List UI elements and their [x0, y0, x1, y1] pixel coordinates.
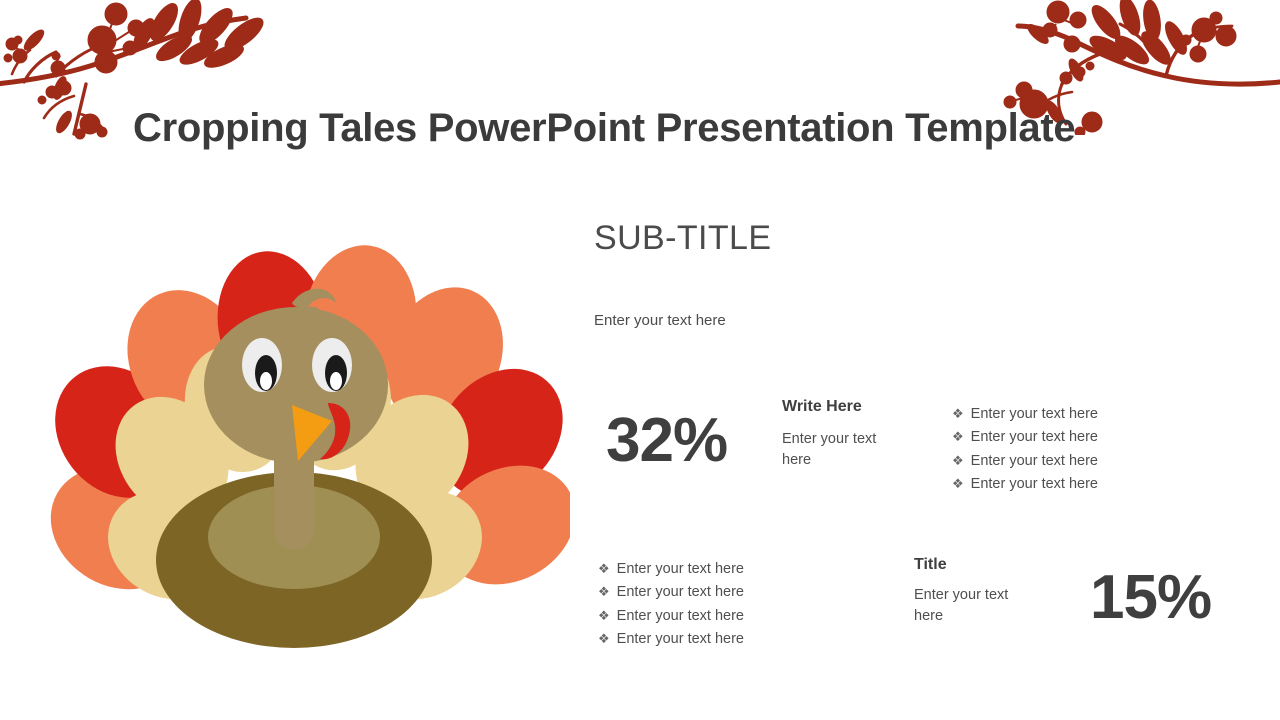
stat-description-left: Enter your text here	[782, 429, 900, 471]
floret-bullet-icon: ❖	[598, 585, 610, 598]
bullet-list-top-right: ❖ Enter your text here ❖ Enter your text…	[952, 405, 1098, 499]
floret-bullet-icon: ❖	[598, 609, 610, 622]
turkey-illustration	[40, 245, 570, 655]
list-item-label: Enter your text here	[617, 560, 744, 579]
stat-value-right: 15%	[1090, 567, 1211, 629]
list-item-label: Enter your text here	[971, 452, 1098, 471]
floret-bullet-icon: ❖	[952, 477, 964, 490]
list-item-label: Enter your text here	[617, 630, 744, 649]
stat-heading-right: Title	[914, 556, 947, 574]
stat-description-right: Enter your text here	[914, 585, 1032, 627]
presentation-slide: Cropping Tales PowerPoint Presentation T…	[0, 0, 1280, 720]
list-item-label: Enter your text here	[971, 405, 1098, 424]
list-item-label: Enter your text here	[617, 583, 744, 602]
floret-bullet-icon: ❖	[952, 407, 964, 420]
list-item: ❖ Enter your text here	[952, 452, 1098, 471]
floret-bullet-icon: ❖	[598, 632, 610, 645]
list-item-label: Enter your text here	[971, 428, 1098, 447]
list-item: ❖ Enter your text here	[598, 607, 744, 626]
list-item: ❖ Enter your text here	[952, 405, 1098, 424]
sub-title-description: Enter your text here	[594, 312, 726, 329]
floret-bullet-icon: ❖	[952, 430, 964, 443]
bullet-list-bottom-left: ❖ Enter your text here ❖ Enter your text…	[598, 560, 744, 654]
list-item: ❖ Enter your text here	[598, 560, 744, 579]
list-item: ❖ Enter your text here	[952, 475, 1098, 494]
stat-value-left: 32%	[606, 410, 727, 472]
list-item: ❖ Enter your text here	[598, 630, 744, 649]
slide-title: Cropping Tales PowerPoint Presentation T…	[133, 106, 1075, 151]
list-item: ❖ Enter your text here	[952, 428, 1098, 447]
list-item-label: Enter your text here	[971, 475, 1098, 494]
sub-title: SUB-TITLE	[594, 219, 771, 258]
list-item-label: Enter your text here	[617, 607, 744, 626]
list-item: ❖ Enter your text here	[598, 583, 744, 602]
floret-bullet-icon: ❖	[598, 562, 610, 575]
stat-heading-left: Write Here	[782, 398, 862, 416]
floret-bullet-icon: ❖	[952, 454, 964, 467]
